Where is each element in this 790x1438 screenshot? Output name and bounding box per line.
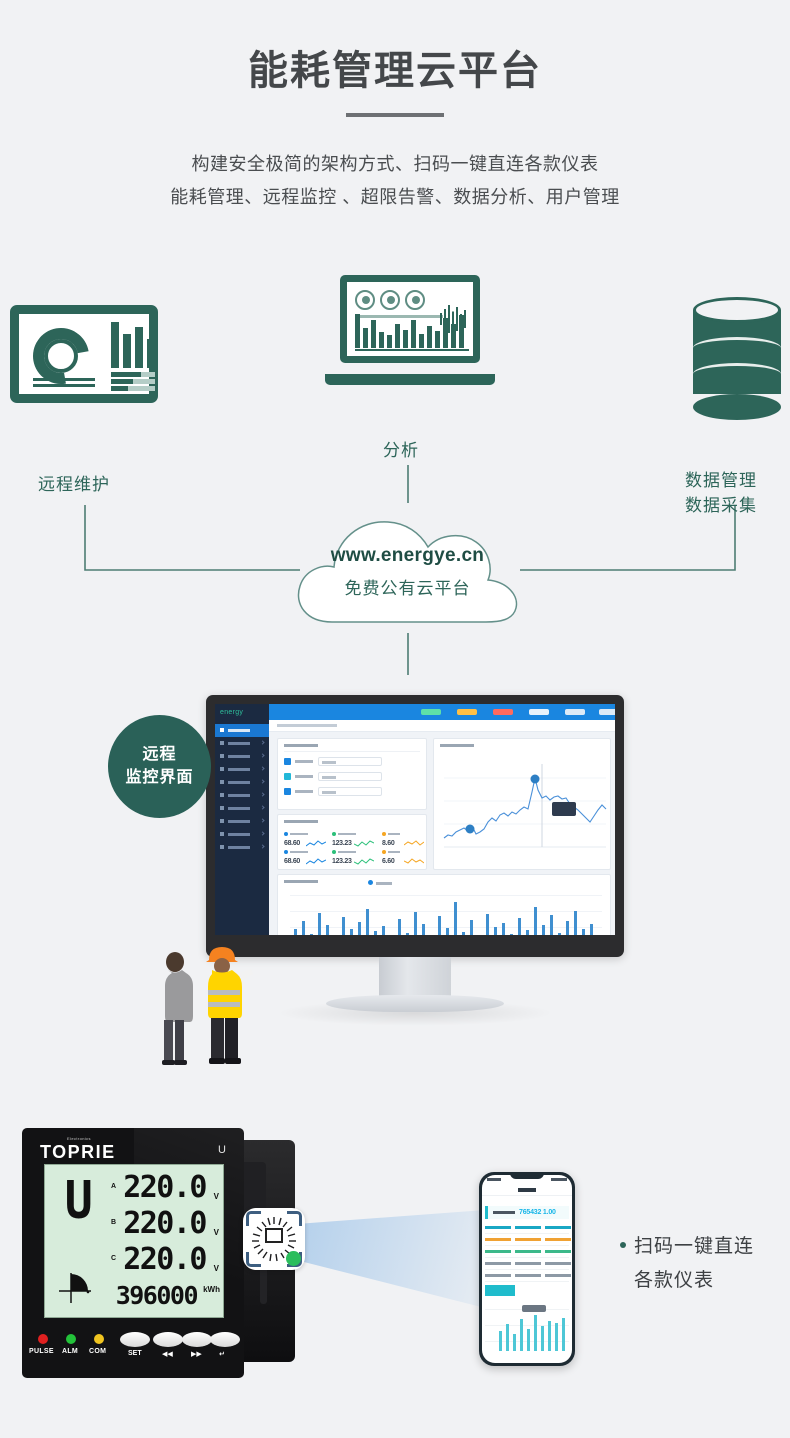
- page-header: 能耗管理云平台 构建安全极简的架构方式、扫码一键直连各款仪表 能耗管理、远程监控…: [0, 0, 790, 240]
- architecture-diagram: www.energye.cn 免费公有云平台 远程维护 分析 数据管理 数据采集: [0, 255, 790, 675]
- bar: [462, 932, 465, 935]
- subtitle-line-1: 构建安全极简的架构方式、扫码一键直连各款仪表: [0, 148, 790, 181]
- lcd-phase-label: C: [111, 1255, 116, 1262]
- bar: [438, 916, 441, 935]
- sidebar-item[interactable]: [215, 750, 269, 763]
- icon-text-line: [33, 378, 95, 381]
- mobile-phone: 765432 1.00: [479, 1172, 575, 1366]
- badge-line-1: 远程: [108, 743, 211, 766]
- icon-bar: [135, 327, 143, 368]
- wechat-icon: [286, 1251, 301, 1266]
- dashboard-sidebar[interactable]: energy: [215, 704, 269, 935]
- kpi-card: 68.60 123.23 8.60 68.60 123.23 6.60: [277, 814, 427, 870]
- phone-tabs[interactable]: [485, 1285, 569, 1296]
- lcd-unit-a: V: [214, 1192, 219, 1201]
- bar: [382, 926, 385, 935]
- topbar-action[interactable]: [493, 709, 513, 715]
- label-data-line-1: 数据管理: [685, 468, 757, 493]
- kpi-item: 123.23: [332, 849, 372, 872]
- lcd-unit-c: V: [214, 1264, 219, 1273]
- card-title: [440, 744, 474, 747]
- phone-notch: [510, 1172, 544, 1179]
- card-title: [284, 820, 318, 823]
- filter-row[interactable]: [284, 787, 422, 796]
- sidebar-item[interactable]: [215, 776, 269, 789]
- phone-metrics-grid: [485, 1222, 569, 1282]
- led-pulse-label: PULSE: [29, 1348, 54, 1355]
- phone-bar-chart: [485, 1303, 569, 1359]
- bar: [499, 1331, 502, 1351]
- database-top: [693, 297, 781, 323]
- chart-legend[interactable]: [368, 879, 568, 885]
- table-row: [485, 1234, 569, 1246]
- bar: [406, 933, 409, 935]
- kpi-item: 68.60: [284, 849, 324, 872]
- bar: [446, 928, 449, 935]
- phone-tab-active[interactable]: [485, 1285, 515, 1296]
- phone-app-screen[interactable]: 765432 1.00: [482, 1175, 572, 1363]
- sidebar-item[interactable]: [215, 815, 269, 828]
- card-title: [284, 880, 318, 883]
- sidebar-item[interactable]: [215, 841, 269, 854]
- dashboard-screen: energy: [215, 704, 615, 935]
- devices-section: Electronics TOPRIE U U A 220.0 V B 220.0…: [0, 1110, 790, 1438]
- table-row: [485, 1246, 569, 1258]
- bar: [302, 921, 305, 935]
- icon-text-line: [111, 372, 141, 377]
- meter-corner-mark: U: [218, 1144, 226, 1156]
- bar: [350, 929, 353, 935]
- topbar-action[interactable]: [599, 709, 615, 715]
- meter-button-next[interactable]: [182, 1332, 212, 1347]
- chart-tooltip: [522, 1305, 546, 1312]
- waveform-icon: [464, 310, 466, 328]
- gridline: [290, 911, 602, 912]
- subtitle-line-2: 能耗管理、远程监控 、超限告警、数据分析、用户管理: [0, 181, 790, 214]
- bar: [422, 924, 425, 935]
- meter-control-row[interactable]: PULSE ALM COM SET ◀◀ ▶▶ ↵: [22, 1326, 244, 1378]
- card-title: [284, 744, 318, 747]
- bar: [358, 922, 361, 935]
- icon-bar: [111, 322, 119, 368]
- icon-bar: [387, 335, 392, 348]
- meter-brand: TOPRIE: [40, 1142, 116, 1163]
- user-avatar-icon: [380, 290, 400, 310]
- icon-bar: [443, 318, 448, 348]
- lcd-mode-indicator: U: [65, 1175, 93, 1227]
- person-in-suit: [152, 950, 196, 1065]
- label-data-management: 数据管理 数据采集: [685, 468, 757, 518]
- sidebar-item[interactable]: [215, 724, 269, 737]
- icon-bar: [419, 334, 424, 348]
- cloud-subtitle-label: 免费公有云平台: [290, 574, 525, 599]
- meter-button-back[interactable]: [210, 1332, 240, 1347]
- lcd-phase-label: B: [111, 1219, 116, 1226]
- monitor-stand-neck: [379, 957, 451, 999]
- bar: [506, 1324, 509, 1351]
- meter-button-set[interactable]: [120, 1332, 150, 1347]
- led-com: [94, 1334, 104, 1344]
- icon-text-line: [33, 384, 95, 387]
- lcd-value-c: 220.0: [123, 1245, 206, 1275]
- led-com-label: COM: [89, 1348, 106, 1355]
- bar: [526, 930, 529, 935]
- icon-bar: [435, 331, 440, 348]
- desktop-monitor: energy: [206, 695, 624, 957]
- dashboard-menu[interactable]: [215, 724, 269, 854]
- icon-bar: [363, 328, 368, 348]
- bar: [502, 923, 505, 935]
- line-chart-card: [433, 738, 611, 870]
- lcd-quadrant-icon: [57, 1269, 97, 1305]
- phone-metric-banner: 765432 1.00: [485, 1206, 569, 1219]
- bar: [414, 912, 417, 935]
- phone-metric-label: [493, 1211, 515, 1214]
- bar: [294, 929, 297, 935]
- line-chart: [434, 752, 612, 870]
- bar: [548, 1321, 551, 1351]
- page-subtitle: 构建安全极简的架构方式、扫码一键直连各款仪表 能耗管理、远程监控 、超限告警、数…: [0, 148, 790, 214]
- sidebar-item[interactable]: [215, 828, 269, 841]
- bar: [470, 920, 473, 935]
- topbar-action[interactable]: [565, 709, 585, 715]
- select-input[interactable]: [318, 757, 382, 766]
- meter-button-back-label: ↵: [219, 1350, 225, 1358]
- meter-lcd-display: U A 220.0 V B 220.0 V C 220.0 V 396000 k…: [44, 1164, 224, 1318]
- donut-chart-core: [44, 339, 78, 373]
- report-dashboard-icon: [10, 305, 158, 403]
- sidebar-item[interactable]: [215, 802, 269, 815]
- bar: [366, 909, 369, 935]
- monitor-scene: energy: [0, 670, 790, 1100]
- label-data-line-2: 数据采集: [685, 493, 757, 518]
- bar: [513, 1334, 516, 1351]
- user-avatar-icon: [405, 290, 425, 310]
- table-row: [485, 1270, 569, 1282]
- title-divider: [346, 113, 444, 117]
- lcd-phase-label: A: [111, 1183, 116, 1190]
- dashboard-logo: energy: [220, 709, 264, 720]
- laptop-screen: [340, 275, 480, 363]
- icon-bar: [395, 324, 400, 348]
- phone-screen-title: [518, 1188, 536, 1192]
- cloud-url-label: www.energye.cn: [290, 545, 525, 567]
- icon-text-line: [355, 315, 443, 318]
- qr-core-icon: [265, 1228, 283, 1243]
- bar: [558, 933, 561, 935]
- meter-front-panel: Electronics TOPRIE U U A 220.0 V B 220.0…: [22, 1128, 244, 1378]
- icon-bar: [147, 339, 155, 368]
- filter-row[interactable]: [284, 772, 422, 781]
- label-analysis: 分析: [383, 438, 419, 463]
- remote-monitoring-badge: 远程 监控界面: [108, 715, 211, 818]
- bar: [494, 927, 497, 935]
- kpi-item: 6.60: [382, 849, 422, 872]
- lcd-unit-b: V: [214, 1228, 219, 1237]
- bar: [527, 1329, 530, 1351]
- card-divider: [284, 751, 420, 752]
- dashboard-breadcrumb: [269, 720, 615, 732]
- page-title: 能耗管理云平台: [0, 38, 790, 96]
- worker-in-safety-vest: [199, 942, 255, 1065]
- icon-bar: [451, 324, 456, 348]
- sidebar-item[interactable]: [215, 737, 269, 750]
- database-ring: [693, 337, 781, 359]
- bar: [510, 934, 513, 935]
- phone-nav-bar[interactable]: [482, 1185, 572, 1196]
- scan-beam: [300, 1210, 485, 1308]
- icon-bar: [427, 326, 432, 348]
- meter-brand-sub: Electronics: [67, 1136, 91, 1141]
- meter-button-next-label: ▶▶: [191, 1350, 202, 1358]
- label-remote-maintenance: 远程维护: [38, 472, 110, 497]
- table-row: [485, 1258, 569, 1270]
- bar: [310, 934, 313, 935]
- icon-bar: [123, 334, 131, 368]
- database-ring: [693, 363, 781, 385]
- database-icon: [693, 297, 781, 407]
- meter-button-set-label: SET: [128, 1350, 142, 1357]
- database-bottom: [693, 394, 781, 420]
- table-row: [485, 1222, 569, 1234]
- bullet-line-2: 各款仪表: [634, 1264, 785, 1298]
- icon-bar: [379, 332, 384, 348]
- topbar-action[interactable]: [529, 709, 549, 715]
- filter-row[interactable]: [284, 757, 422, 766]
- bar: [582, 929, 585, 935]
- bar: [590, 924, 593, 935]
- meter-button-prev[interactable]: [153, 1332, 183, 1347]
- laptop-base: [325, 374, 495, 385]
- bar: [550, 915, 553, 935]
- meter-button-prev-label: ◀◀: [162, 1350, 173, 1358]
- icon-text-line: [111, 386, 128, 391]
- icon-bar: [371, 320, 376, 348]
- bullet-line-1: 扫码一键直连: [634, 1230, 785, 1264]
- dashboard-topbar[interactable]: [269, 704, 615, 720]
- sidebar-item[interactable]: [215, 763, 269, 776]
- bar: [566, 921, 569, 935]
- bullet-dot-icon: [620, 1242, 626, 1248]
- scan-feature-bullet: 扫码一键直连 各款仪表: [620, 1230, 785, 1298]
- led-alm: [66, 1334, 76, 1344]
- laptop-analytics-icon: [325, 275, 495, 385]
- waveform-icon: [448, 305, 450, 333]
- phone-metric-value: 765432 1.00: [519, 1209, 556, 1216]
- bar: [486, 914, 489, 935]
- bar: [326, 925, 329, 935]
- sidebar-item[interactable]: [215, 789, 269, 802]
- icon-text-line: [111, 379, 133, 384]
- bar-chart: [290, 895, 602, 935]
- badge-line-2: 监控界面: [108, 766, 211, 789]
- bar: [398, 919, 401, 935]
- cloud-platform-node: www.energye.cn 免费公有云平台: [290, 490, 525, 635]
- waveform-icon: [456, 307, 458, 331]
- bar: [342, 917, 345, 935]
- bar: [542, 925, 545, 935]
- select-input[interactable]: [318, 787, 382, 796]
- monitor-stand-base: [326, 995, 504, 1012]
- icon-bar: [459, 315, 464, 348]
- bar: [454, 902, 457, 935]
- topbar-action[interactable]: [457, 709, 477, 715]
- bar: [562, 1318, 565, 1351]
- icon-axis: [355, 349, 469, 351]
- icon-bar: [411, 320, 416, 348]
- topbar-action[interactable]: [421, 709, 441, 715]
- waveform-icon: [440, 313, 442, 325]
- bar: [541, 1326, 544, 1351]
- bar: [534, 1315, 537, 1351]
- bar-chart-card: [277, 874, 611, 935]
- bar: [520, 1319, 523, 1351]
- led-pulse: [38, 1334, 48, 1344]
- lcd-energy-unit: kWh: [203, 1285, 220, 1294]
- bar: [374, 931, 377, 935]
- filter-card: [277, 738, 427, 810]
- bar: [555, 1323, 558, 1351]
- gridline: [290, 895, 602, 896]
- bar: [518, 918, 521, 935]
- wechat-qr-scan-badge[interactable]: [243, 1208, 305, 1270]
- led-alm-label: ALM: [62, 1348, 78, 1355]
- bar: [574, 911, 577, 935]
- icon-bar: [355, 314, 360, 348]
- icon-bar: [403, 330, 408, 348]
- select-input[interactable]: [318, 772, 382, 781]
- lcd-value-b: 220.0: [123, 1209, 206, 1239]
- bar: [318, 913, 321, 935]
- lcd-value-a: 220.0: [123, 1173, 206, 1203]
- bar: [534, 907, 537, 935]
- lcd-energy-value: 396000: [116, 1283, 197, 1308]
- user-avatar-icon: [355, 290, 375, 310]
